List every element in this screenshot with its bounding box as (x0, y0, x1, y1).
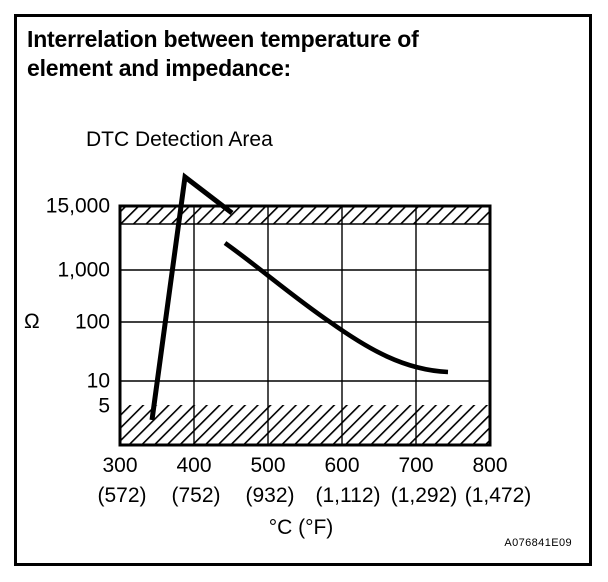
lower-dtc-band (120, 405, 490, 445)
figure-page: Interrelation between temperature of ele… (0, 0, 608, 582)
upper-dtc-band (120, 206, 490, 224)
impedance-plot (0, 0, 608, 582)
